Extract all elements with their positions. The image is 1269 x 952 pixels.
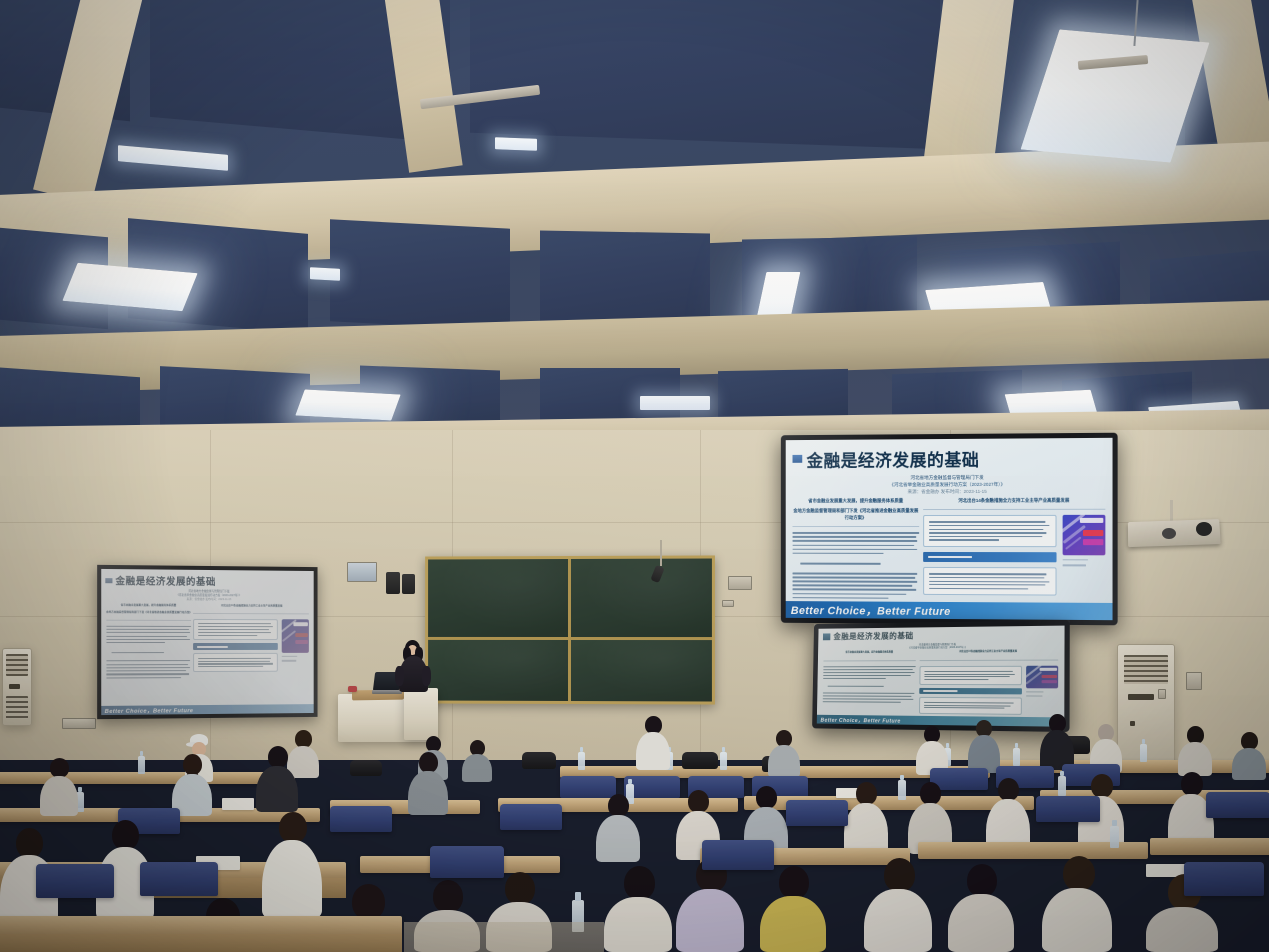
head [608, 794, 629, 817]
blackboard-panel [428, 559, 567, 637]
ceiling-light [495, 137, 537, 150]
head [505, 872, 535, 905]
body [262, 840, 322, 918]
audience-member [604, 866, 672, 952]
slide-right-column: 河北出台14条金融措施全力支持工业主导产业高质量发展 [923, 497, 1105, 603]
desk-row [1150, 838, 1269, 855]
slide-left-heading-1: 省市金融业发展重大发展，提升金融服务体系质量 [823, 652, 916, 656]
body [864, 889, 932, 952]
head [1091, 774, 1113, 798]
chair[interactable] [1036, 796, 1100, 822]
notebook [222, 798, 254, 810]
slide-left-column: 省市金融业发展重大发展，提升金融服务体系质量 金地方金融监督管理局和部门下发《河… [106, 603, 191, 706]
slide-title: 金融是经济发展的基础 [115, 573, 215, 588]
slide-left-paragraph [793, 532, 919, 599]
body [40, 776, 78, 816]
body [636, 732, 670, 770]
water-bottle [578, 752, 585, 770]
projection-screen[interactable]: 金融是经济发展的基础 河北省地方金融监督与管理局门下发 《河北省举金融业高质量发… [97, 565, 317, 719]
chair[interactable] [330, 806, 392, 832]
projector-cable [1196, 522, 1212, 536]
ac-panel[interactable] [1158, 689, 1166, 699]
wall-speaker [402, 574, 415, 594]
head [688, 790, 709, 813]
podium-item [348, 686, 357, 692]
slide-right-column: 河北出台14条金融措施全力支持工业主导产业高质量发展 [919, 651, 1059, 718]
slide-promo-card [1026, 666, 1059, 689]
thermostat[interactable] [1186, 672, 1202, 690]
body [844, 803, 888, 854]
presenter-arm [395, 666, 404, 686]
body [1232, 748, 1266, 780]
secondary-slide: 金融是经济发展的基础 河北省地方金融监督与管理局门下发 《河北省举金融业高质量发… [817, 626, 1065, 727]
slide-header: 金融是经济发展的基础 [101, 569, 313, 591]
ceiling-light [118, 145, 228, 171]
body [1178, 742, 1212, 776]
head [50, 758, 69, 778]
divider [793, 526, 919, 527]
floor [404, 922, 604, 952]
slide-header: 金融是经济发展的基础 [786, 438, 1113, 475]
divider [923, 509, 1105, 510]
water-bottle [1058, 776, 1066, 796]
ac-badge [9, 684, 20, 689]
wall-outlet[interactable] [722, 600, 734, 607]
water-bottle [1140, 744, 1147, 762]
slide-info-card [194, 653, 278, 672]
audience-member [916, 726, 948, 774]
slide-footer: Better Choice，Better Future [817, 715, 1065, 727]
audience-member [1042, 856, 1112, 952]
head [624, 866, 655, 900]
audience-member [40, 758, 78, 816]
ac-grill [6, 696, 28, 719]
divider [106, 619, 191, 620]
body [1146, 907, 1218, 952]
slide-left-paragraph [106, 625, 191, 678]
slide-subtitle: 河北省地方金融监督与管理局门下发 《河北省举金融业高质量发展行动方案（2023-… [786, 473, 1113, 495]
slide-info-card [923, 567, 1057, 596]
head [1181, 772, 1203, 796]
slide-promo-card [282, 619, 309, 653]
slide-body: 省市金融业发展重大发展，提升金融服务体系质量 金地方金融监督管理局和部门下发《河… [101, 602, 313, 706]
ceiling-light [1021, 29, 1210, 162]
bag [682, 752, 718, 769]
divider [823, 660, 916, 661]
slide-info-card [923, 515, 1057, 547]
projector-lens [1162, 528, 1176, 539]
audience-member [262, 812, 322, 918]
slide-left-heading-1: 省市金融业发展重大发展，提升金融服务体系质量 [793, 497, 919, 504]
water-bottle [1110, 826, 1119, 848]
ac-badge [1128, 694, 1154, 700]
body [948, 894, 1014, 952]
blackboard-panel [570, 558, 711, 637]
head [967, 864, 997, 897]
audience-member [256, 746, 298, 812]
body [596, 815, 640, 862]
ceiling-panel [470, 0, 940, 149]
ceiling-light [640, 396, 710, 410]
audience-member [968, 720, 1000, 772]
wall-notice [347, 562, 377, 582]
slide-info-card [194, 619, 278, 641]
head [1063, 856, 1095, 891]
presenter-arm [422, 666, 431, 686]
lecture-hall-scene: 金融是经济发展的基础 河北省地方金融监督与管理局门下发 《河北省举金融业高质量发… [0, 0, 1269, 952]
slide-accent-tick [823, 634, 830, 640]
head [998, 778, 1019, 801]
slide-blue-bar [923, 552, 1057, 562]
head [433, 880, 463, 913]
slide-left-heading-1: 省市金融业发展重大发展，提升金融服务体系质量 [106, 603, 191, 607]
ac-grill [6, 654, 28, 677]
desk-panel [0, 934, 402, 952]
slide-accent-tick [792, 455, 802, 463]
slide-accent-tick [106, 578, 113, 584]
head [856, 782, 877, 805]
audience-member [1232, 732, 1266, 778]
head [112, 820, 139, 850]
slide-footer: Better Choice，Better Future [101, 704, 313, 715]
control-panel[interactable] [728, 576, 752, 590]
ceiling [0, 0, 1269, 470]
head [419, 752, 438, 773]
audience-member [1040, 714, 1074, 770]
slide-title: 金融是经济发展的基础 [806, 445, 979, 471]
audience-member [864, 858, 932, 952]
blackboard [425, 555, 715, 704]
blackboard-panel [570, 640, 711, 701]
main-slide: 金融是经济发展的基础 河北省地方金融监督与管理局门下发 《河北省举金融业高质量发… [786, 438, 1113, 620]
chair[interactable] [36, 864, 114, 898]
slide-right-heading: 河北出台14条金融措施全力支持工业主导产业高质量发展 [923, 497, 1105, 504]
head [779, 866, 809, 899]
audience-member [844, 782, 888, 854]
body [760, 896, 826, 952]
ceiling-light [295, 389, 400, 420]
slide-right-heading: 河北出台14条金融措施全力支持工业主导产业高质量发展 [194, 604, 310, 609]
audience-member [1178, 726, 1212, 774]
divider [194, 613, 310, 614]
ac-grill [1124, 655, 1169, 684]
projection-slide: 金融是经济发展的基础 河北省地方金融监督与管理局门下发 《河北省举金融业高质量发… [101, 569, 313, 715]
audience-member [948, 864, 1014, 952]
chair[interactable] [140, 862, 218, 896]
body [408, 771, 448, 815]
slide-subtitle: 河北省地方金融监督与管理局门下发 《河北省举金融业高质量发展行动方案（2023-… [101, 590, 313, 603]
ceiling-light [310, 267, 340, 281]
body [462, 754, 492, 782]
audience-member [462, 740, 492, 782]
microphone-cable [660, 540, 662, 566]
projector-mount-arm [1170, 500, 1173, 522]
body [604, 897, 672, 952]
audience-member [986, 778, 1030, 852]
slide-left-paragraph [822, 666, 916, 703]
chair[interactable] [500, 804, 562, 830]
bag [522, 752, 556, 769]
slide-left-heading-2: 金地方金融监督管理局和部门下发《河北省推进金融业高质量发展行动方案》 [793, 507, 919, 521]
body [256, 766, 298, 812]
head [352, 884, 385, 920]
water-bottle [138, 756, 145, 774]
bag [350, 760, 382, 776]
wall-air-conditioner [2, 648, 32, 726]
body [676, 889, 744, 952]
slide-title: 金融是经济发展的基础 [833, 631, 913, 643]
head [16, 828, 43, 858]
slide-body: 省市金融业发展重大发展，提升金融服务体系质量 金地方金融监督管理局和部门下发《河… [786, 495, 1113, 603]
head [268, 746, 288, 768]
body [1042, 888, 1112, 952]
body [768, 745, 800, 777]
audience-member [760, 866, 826, 952]
presenter [396, 640, 430, 698]
blackboard-panel [428, 640, 567, 701]
slide-blue-bar [919, 688, 1022, 694]
slide-right-heading: 河北出台14条金融措施全力支持工业主导产业高质量发展 [919, 651, 1058, 656]
water-bottle [1013, 748, 1020, 766]
slide-info-card [919, 666, 1022, 685]
ac-door-handle [1130, 721, 1134, 726]
audience-member [596, 794, 640, 862]
chair[interactable] [430, 846, 504, 878]
slide-left-column: 省市金融业发展重大发展，提升金融服务体系质量 金地方金融监督管理局和部门下发《河… [793, 497, 919, 602]
head [884, 858, 915, 892]
slide-blue-bar [194, 643, 278, 650]
main-wall-display[interactable]: 金融是经济发展的基础 河北省地方金融监督与管理局门下发 《河北省举金融业高质量发… [781, 433, 1118, 626]
audience-member [172, 754, 212, 816]
slide-promo-card [1063, 515, 1105, 555]
water-bottle [898, 780, 906, 800]
slide-left-heading-2: 金地方金融监督管理局和部门下发《河北省推进金融业高质量发展行动方案》 [106, 610, 191, 614]
water-bottle [720, 752, 727, 770]
audience-member [676, 858, 744, 952]
audience-member [768, 730, 800, 776]
secondary-display[interactable]: 金融是经济发展的基础 河北省地方金融监督与管理局门下发 《河北省举金融业高质量发… [812, 620, 1070, 732]
audience-member [408, 752, 448, 814]
chair[interactable] [786, 800, 848, 826]
chair[interactable] [1184, 862, 1264, 896]
audience-member [636, 716, 670, 770]
wall-speaker [386, 572, 400, 594]
ceiling-panel [330, 219, 510, 330]
slide-info-card [919, 697, 1022, 714]
slide-right-column: 河北出台14条金融措施全力支持工业主导产业高质量发展 [194, 604, 310, 705]
slide-body: 省市金融业发展重大发展，提升金融服务体系质量 河北出台14条金融措施全 [817, 649, 1065, 717]
slide-footer: Better Choice，Better Future [786, 601, 1113, 620]
slide-left-column: 省市金融业发展重大发展，提升金融服务体系质量 [822, 652, 916, 716]
head [756, 786, 777, 809]
divider [919, 660, 1058, 662]
head [920, 782, 941, 805]
control-panel[interactable] [62, 718, 96, 729]
chair[interactable] [702, 840, 774, 870]
ceiling-panel [540, 231, 710, 330]
chair[interactable] [1206, 792, 1269, 818]
